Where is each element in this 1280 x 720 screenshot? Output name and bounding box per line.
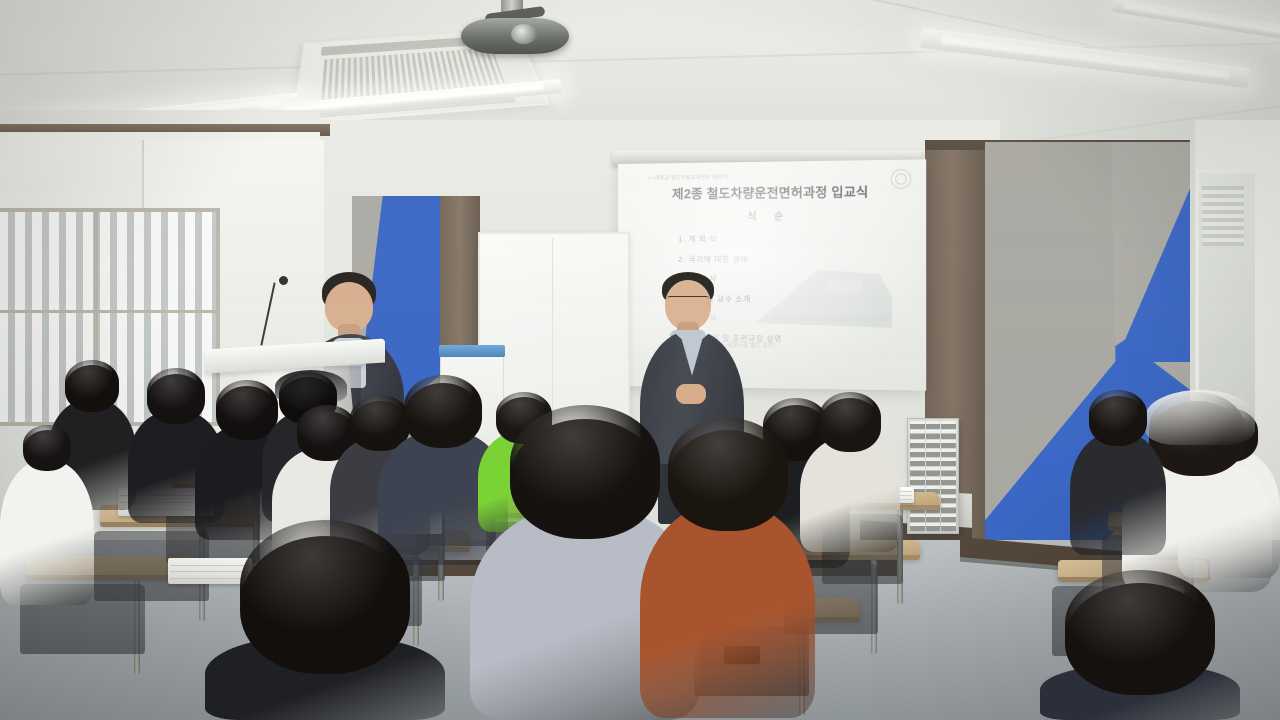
slide-subtitle: 식 순 [626, 206, 918, 224]
cabinet-drawer[interactable] [910, 440, 925, 448]
cabinet-drawer[interactable] [941, 477, 956, 485]
person-hair [668, 418, 788, 515]
cabinet-drawer[interactable] [910, 458, 925, 466]
person-hair [240, 520, 410, 651]
cabinet-drawer[interactable] [910, 514, 925, 522]
window-mullion [0, 310, 216, 313]
document-sorting-cabinet [907, 418, 959, 534]
projector-lens-icon [511, 24, 537, 44]
cabinet-drawer[interactable] [926, 430, 941, 438]
man-in-black-striped-polo-right [1070, 390, 1166, 555]
person-hair [1065, 570, 1215, 677]
cabinet-drawer[interactable] [941, 486, 956, 494]
presenter-hands [676, 384, 706, 404]
cabinet-drawer[interactable] [910, 449, 925, 457]
flip-chart-header-band [439, 345, 505, 357]
cabinet-drawer[interactable] [926, 458, 941, 466]
cabinet-drawer[interactable] [941, 449, 956, 457]
person-torso [0, 460, 94, 605]
cabinet-drawer[interactable] [926, 440, 941, 448]
slide-title: 제2종 철도차량운전면허과정 입교식 [626, 180, 918, 203]
cabinet-drawer[interactable] [926, 421, 941, 429]
woman-in-rust-top-bob-haircut [640, 418, 815, 718]
cabinet-drawer[interactable] [941, 458, 956, 466]
man-in-navy-shirt-front-right [1040, 570, 1240, 720]
cabinet-drawer[interactable] [910, 430, 925, 438]
cabinet-drawer[interactable] [926, 449, 941, 457]
cabinet-drawer[interactable] [941, 440, 956, 448]
microphone-icon [279, 276, 288, 285]
slide-agenda-item: 1. 개 회 식 [678, 232, 918, 244]
person-hair [1089, 390, 1147, 438]
cabinet-drawer[interactable] [910, 421, 925, 429]
projector-icon [455, 0, 575, 62]
person-hair [23, 425, 71, 464]
cabinet-drawer[interactable] [926, 523, 941, 531]
door-louvers [1202, 186, 1244, 246]
person-torso [1070, 432, 1166, 555]
cabinet-drawer[interactable] [941, 514, 956, 522]
cabinet-drawer[interactable] [926, 477, 941, 485]
person-torso [640, 503, 815, 718]
cabinet-drawer[interactable] [941, 421, 956, 429]
person-torso [800, 437, 900, 552]
cabinet-drawer[interactable] [941, 430, 956, 438]
cabinet-drawer[interactable] [910, 523, 925, 531]
classroom-photo-scene: ○○대학교 철도차량교육센터 제20기 제2종 철도차량운전면허과정 입교식 식… [0, 0, 1280, 720]
man-in-black-shirt-front-left [205, 520, 445, 720]
cabinet-drawer[interactable] [941, 523, 956, 531]
person-hair [510, 405, 660, 520]
presenter-glasses-icon [667, 296, 709, 304]
person-hair [65, 360, 119, 404]
cabinet-drawer[interactable] [926, 514, 941, 522]
man-in-white-tee-right [800, 392, 900, 552]
cabinet-drawer[interactable] [910, 477, 925, 485]
cabinet-drawer[interactable] [941, 467, 956, 475]
cabinet-drawer[interactable] [910, 467, 925, 475]
cabinet-drawer[interactable] [926, 467, 941, 475]
man-in-white-tee-far-left [0, 425, 94, 605]
cabinet-drawer[interactable] [941, 495, 956, 503]
cabinet-drawer[interactable] [941, 504, 956, 512]
person-hair [819, 392, 881, 443]
